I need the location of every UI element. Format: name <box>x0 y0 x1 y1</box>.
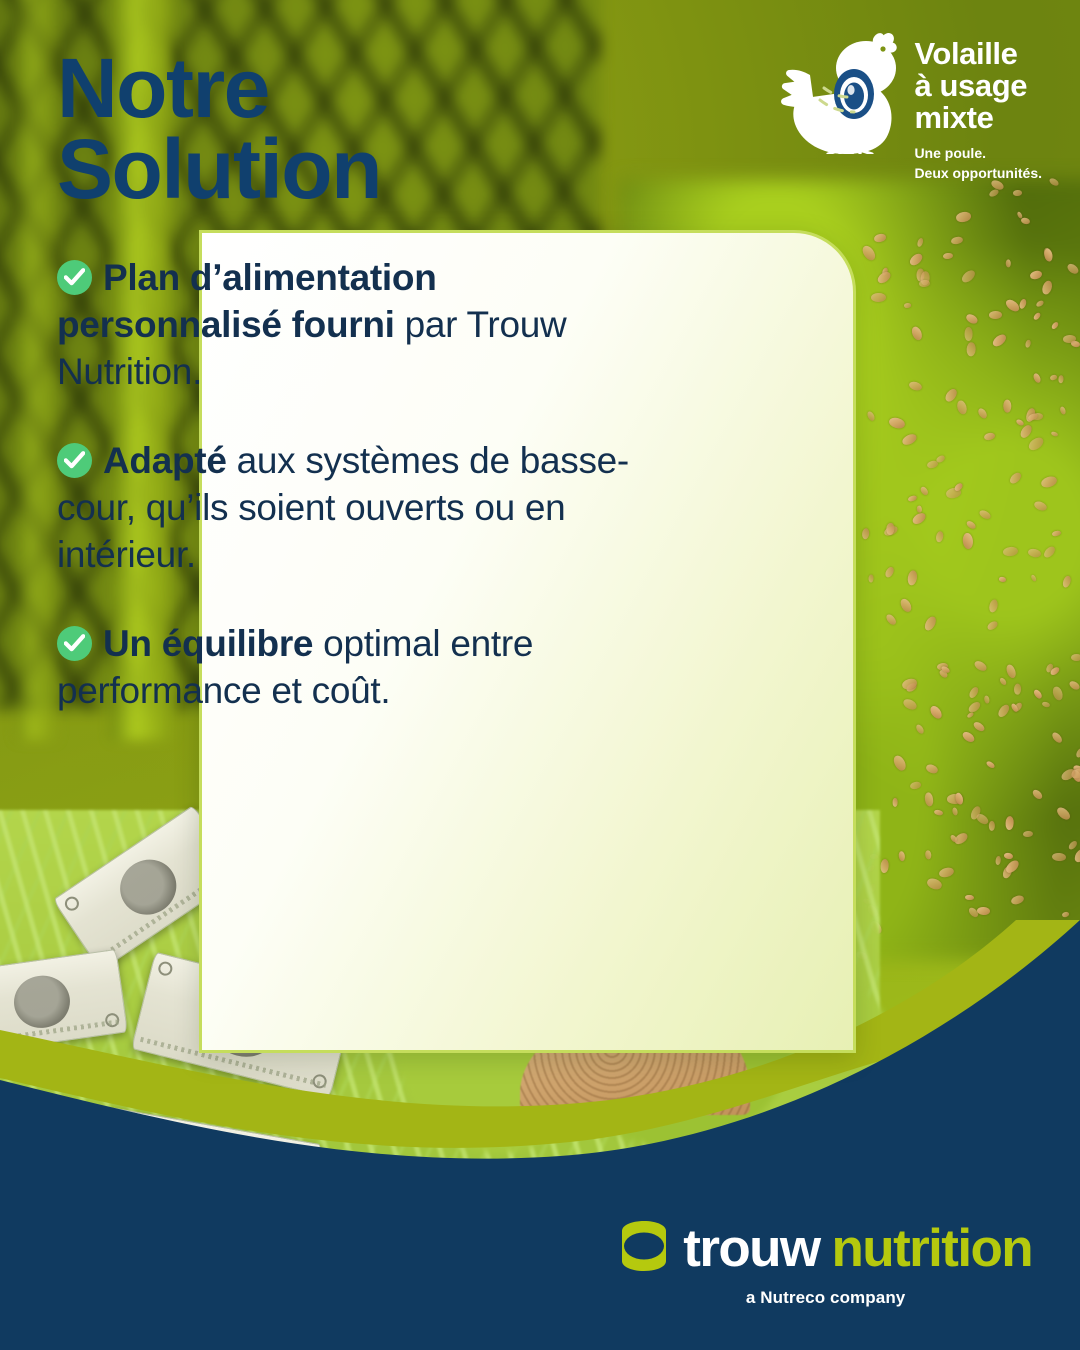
list-item-bold-text: Un équilibre <box>103 623 313 664</box>
seed-particle <box>989 311 1002 319</box>
list-item: Un équilibre optimal entre performance e… <box>57 621 657 715</box>
seed-particle <box>870 292 885 301</box>
benefits-list: Plan d’alimentation personnalisé fourni … <box>57 255 697 715</box>
chicken-egg-icon <box>780 22 898 159</box>
logo-row: trouwnutrition <box>619 1219 1032 1278</box>
logo-tagline: a Nutreco company <box>746 1288 905 1308</box>
logo-wordmark: trouwnutrition <box>683 1222 1032 1275</box>
trouw-cylinder-icon <box>619 1219 669 1278</box>
list-item: Adapté aux systèmes de basse-cour, qu’il… <box>57 438 657 579</box>
badge-title-line-3: mixte <box>914 102 1042 134</box>
page-title-line-1: Notre <box>57 48 697 129</box>
badge-title-line-1: Volaille <box>914 38 1042 70</box>
list-item-bold-text: Plan d’alimentation personnalisé fourni <box>57 257 437 345</box>
badge-subtitle-line-1: Une poule. <box>914 144 1042 164</box>
badge-title-line-2: à usage <box>914 70 1042 102</box>
bill-portrait <box>110 849 187 925</box>
coop-post-secondary <box>16 0 56 740</box>
seed-particle <box>964 327 972 341</box>
seed-particle <box>917 505 922 513</box>
seed-particle <box>1058 375 1063 383</box>
list-item-bold-text: Adapté <box>103 440 227 481</box>
seed-particle <box>886 522 895 535</box>
badge-subtitle: Une poule. Deux opportunités. <box>914 144 1042 184</box>
seed-particle <box>1003 399 1011 412</box>
card-content: Notre Solution Plan d’alimentation perso… <box>57 48 697 715</box>
bill-corner-seal <box>157 960 174 977</box>
check-circle-icon <box>57 443 92 478</box>
check-circle-icon <box>57 626 92 661</box>
logo-brand-second: nutrition <box>832 1219 1032 1278</box>
page-title: Notre Solution <box>57 48 697 211</box>
trouw-nutrition-logo: trouwnutrition a Nutreco company <box>619 1219 1032 1308</box>
volaille-badge: Volaille à usage mixte Une poule. Deux o… <box>780 22 1042 183</box>
badge-title: Volaille à usage mixte <box>914 38 1042 135</box>
seed-particle <box>1013 189 1022 195</box>
badge-subtitle-line-2: Deux opportunités. <box>914 164 1042 184</box>
page-title-line-2: Solution <box>57 129 697 210</box>
list-item: Plan d’alimentation personnalisé fourni … <box>57 255 657 396</box>
bill-corner-seal <box>62 894 81 913</box>
check-circle-icon <box>57 260 92 295</box>
seed-particle <box>1071 654 1080 661</box>
seed-particle <box>903 302 911 308</box>
badge-text-block: Volaille à usage mixte Une poule. Deux o… <box>914 22 1042 183</box>
poster-canvas: Volaille à usage mixte Une poule. Deux o… <box>0 0 1080 1350</box>
seed-particle <box>1013 684 1020 695</box>
seed-particle <box>966 342 975 356</box>
bill-portrait <box>11 972 73 1032</box>
logo-brand-first: trouw <box>683 1219 819 1278</box>
